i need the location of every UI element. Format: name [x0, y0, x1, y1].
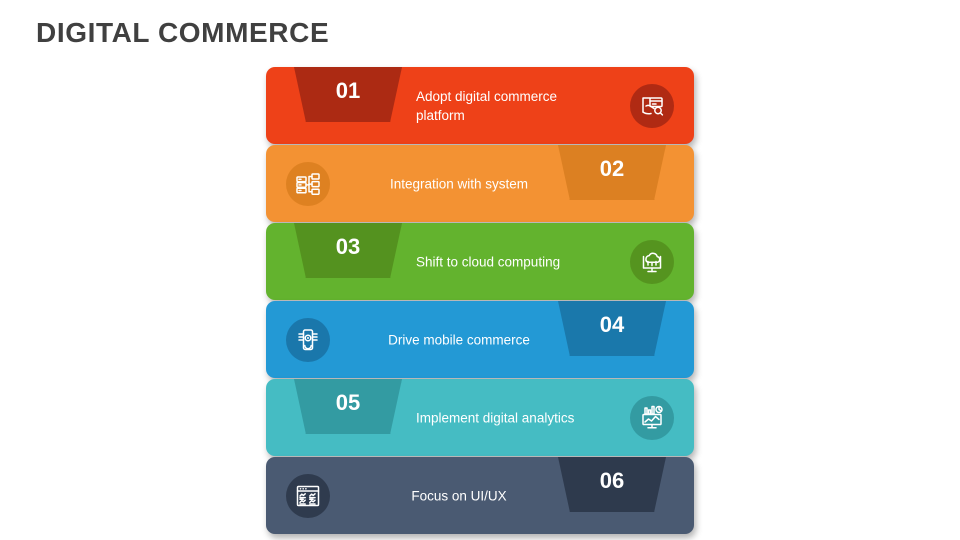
step-label: Adopt digital commerce platform — [416, 86, 591, 124]
step-number: 05 — [336, 392, 360, 414]
step-number-tab: 01 — [294, 67, 402, 122]
step-row[interactable]: 03Shift to cloud computing — [266, 223, 694, 300]
step-row[interactable]: 02Integration with system — [266, 145, 694, 222]
step-number-tab: 02 — [558, 145, 666, 200]
step-label: Shift to cloud computing — [416, 252, 591, 271]
step-number: 03 — [336, 236, 360, 258]
steps-list: 01Adopt digital commerce platform02Integ… — [266, 67, 694, 535]
step-number: 04 — [600, 314, 624, 336]
step-row[interactable]: 06Focus on UI/UX — [266, 457, 694, 534]
step-row[interactable]: 04Drive mobile commerce — [266, 301, 694, 378]
cloud-monitor-icon — [630, 240, 674, 284]
wireframe-browser-icon — [286, 474, 330, 518]
step-number-tab: 04 — [558, 301, 666, 356]
step-number: 01 — [336, 80, 360, 102]
step-row[interactable]: 05Implement digital analytics — [266, 379, 694, 456]
step-number-tab: 06 — [558, 457, 666, 512]
step-label: Implement digital analytics — [416, 408, 591, 427]
step-number-tab: 03 — [294, 223, 402, 278]
server-network-icon — [286, 162, 330, 206]
step-label: Focus on UI/UX — [344, 486, 574, 505]
payment-card-hand-icon — [630, 84, 674, 128]
step-label: Drive mobile commerce — [344, 330, 574, 349]
step-row[interactable]: 01Adopt digital commerce platform — [266, 67, 694, 144]
page-title: DIGITAL COMMERCE — [36, 17, 329, 49]
step-number: 06 — [600, 470, 624, 492]
mobile-device-icon — [286, 318, 330, 362]
analytics-chart-monitor-icon — [630, 396, 674, 440]
step-label: Integration with system — [344, 174, 574, 193]
step-number-tab: 05 — [294, 379, 402, 434]
step-number: 02 — [600, 158, 624, 180]
